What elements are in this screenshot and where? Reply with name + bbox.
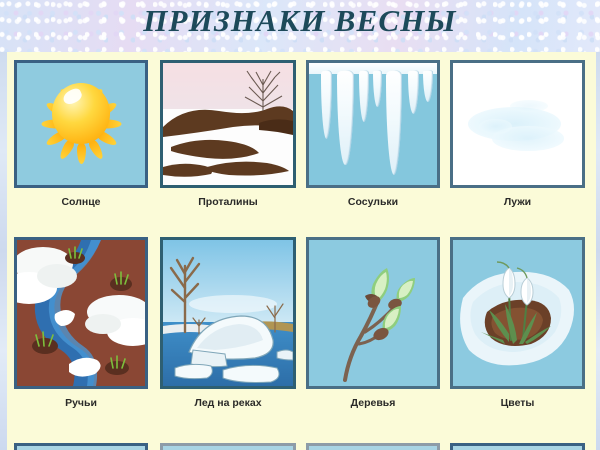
caption-flowers: Цветы [436, 397, 599, 409]
river-ice-icon [163, 240, 293, 386]
icicles-icon [309, 63, 437, 185]
card-icicles[interactable]: Сосульки [306, 60, 440, 215]
image-frame-trees [306, 237, 440, 389]
image-frame-row3-col1[interactable] [14, 443, 148, 450]
thawed-ground-icon [163, 63, 293, 185]
card-trees[interactable]: Деревья [306, 237, 440, 417]
image-frame-thawed-patches [160, 60, 296, 188]
puddle-icon [453, 63, 582, 185]
image-frame-icicles [306, 60, 440, 188]
image-frame-row3-col2[interactable] [160, 443, 296, 450]
page-title: ПРИЗНАКИ ВЕСНЫ [0, 3, 600, 39]
poster-canvas: ПРИЗНАКИ ВЕСНЫ Солнце [0, 0, 600, 450]
caption-icicles: Сосульки [292, 196, 454, 208]
stream-icon [17, 240, 145, 386]
caption-streams: Ручьи [0, 397, 162, 409]
sun-icon [17, 63, 145, 185]
image-frame-streams [14, 237, 148, 389]
caption-river-ice: Лед на реках [146, 397, 310, 409]
image-frame-puddles [450, 60, 585, 188]
right-edge-strip [596, 52, 600, 450]
caption-puddles: Лужи [436, 196, 599, 208]
card-river-ice[interactable]: Лед на реках [160, 237, 296, 417]
card-flowers[interactable]: Цветы [450, 237, 585, 417]
budding-branch-icon [309, 240, 437, 386]
caption-sun: Солнце [0, 196, 162, 208]
image-frame-row3-col3[interactable] [306, 443, 440, 450]
caption-thawed-patches: Проталины [146, 196, 310, 208]
image-frame-river-ice [160, 237, 296, 389]
card-sun[interactable]: Солнце [14, 60, 148, 215]
left-edge-strip [0, 52, 7, 450]
title-band: ПРИЗНАКИ ВЕСНЫ [0, 0, 600, 52]
image-frame-sun [14, 60, 148, 188]
image-frame-row3-col4[interactable] [450, 443, 585, 450]
caption-trees: Деревья [292, 397, 454, 409]
card-puddles[interactable]: Лужи [450, 60, 585, 215]
card-thawed-patches[interactable]: Проталины [160, 60, 296, 215]
snowdrop-icon [453, 240, 582, 386]
card-streams[interactable]: Ручьи [14, 237, 148, 417]
image-frame-flowers [450, 237, 585, 389]
